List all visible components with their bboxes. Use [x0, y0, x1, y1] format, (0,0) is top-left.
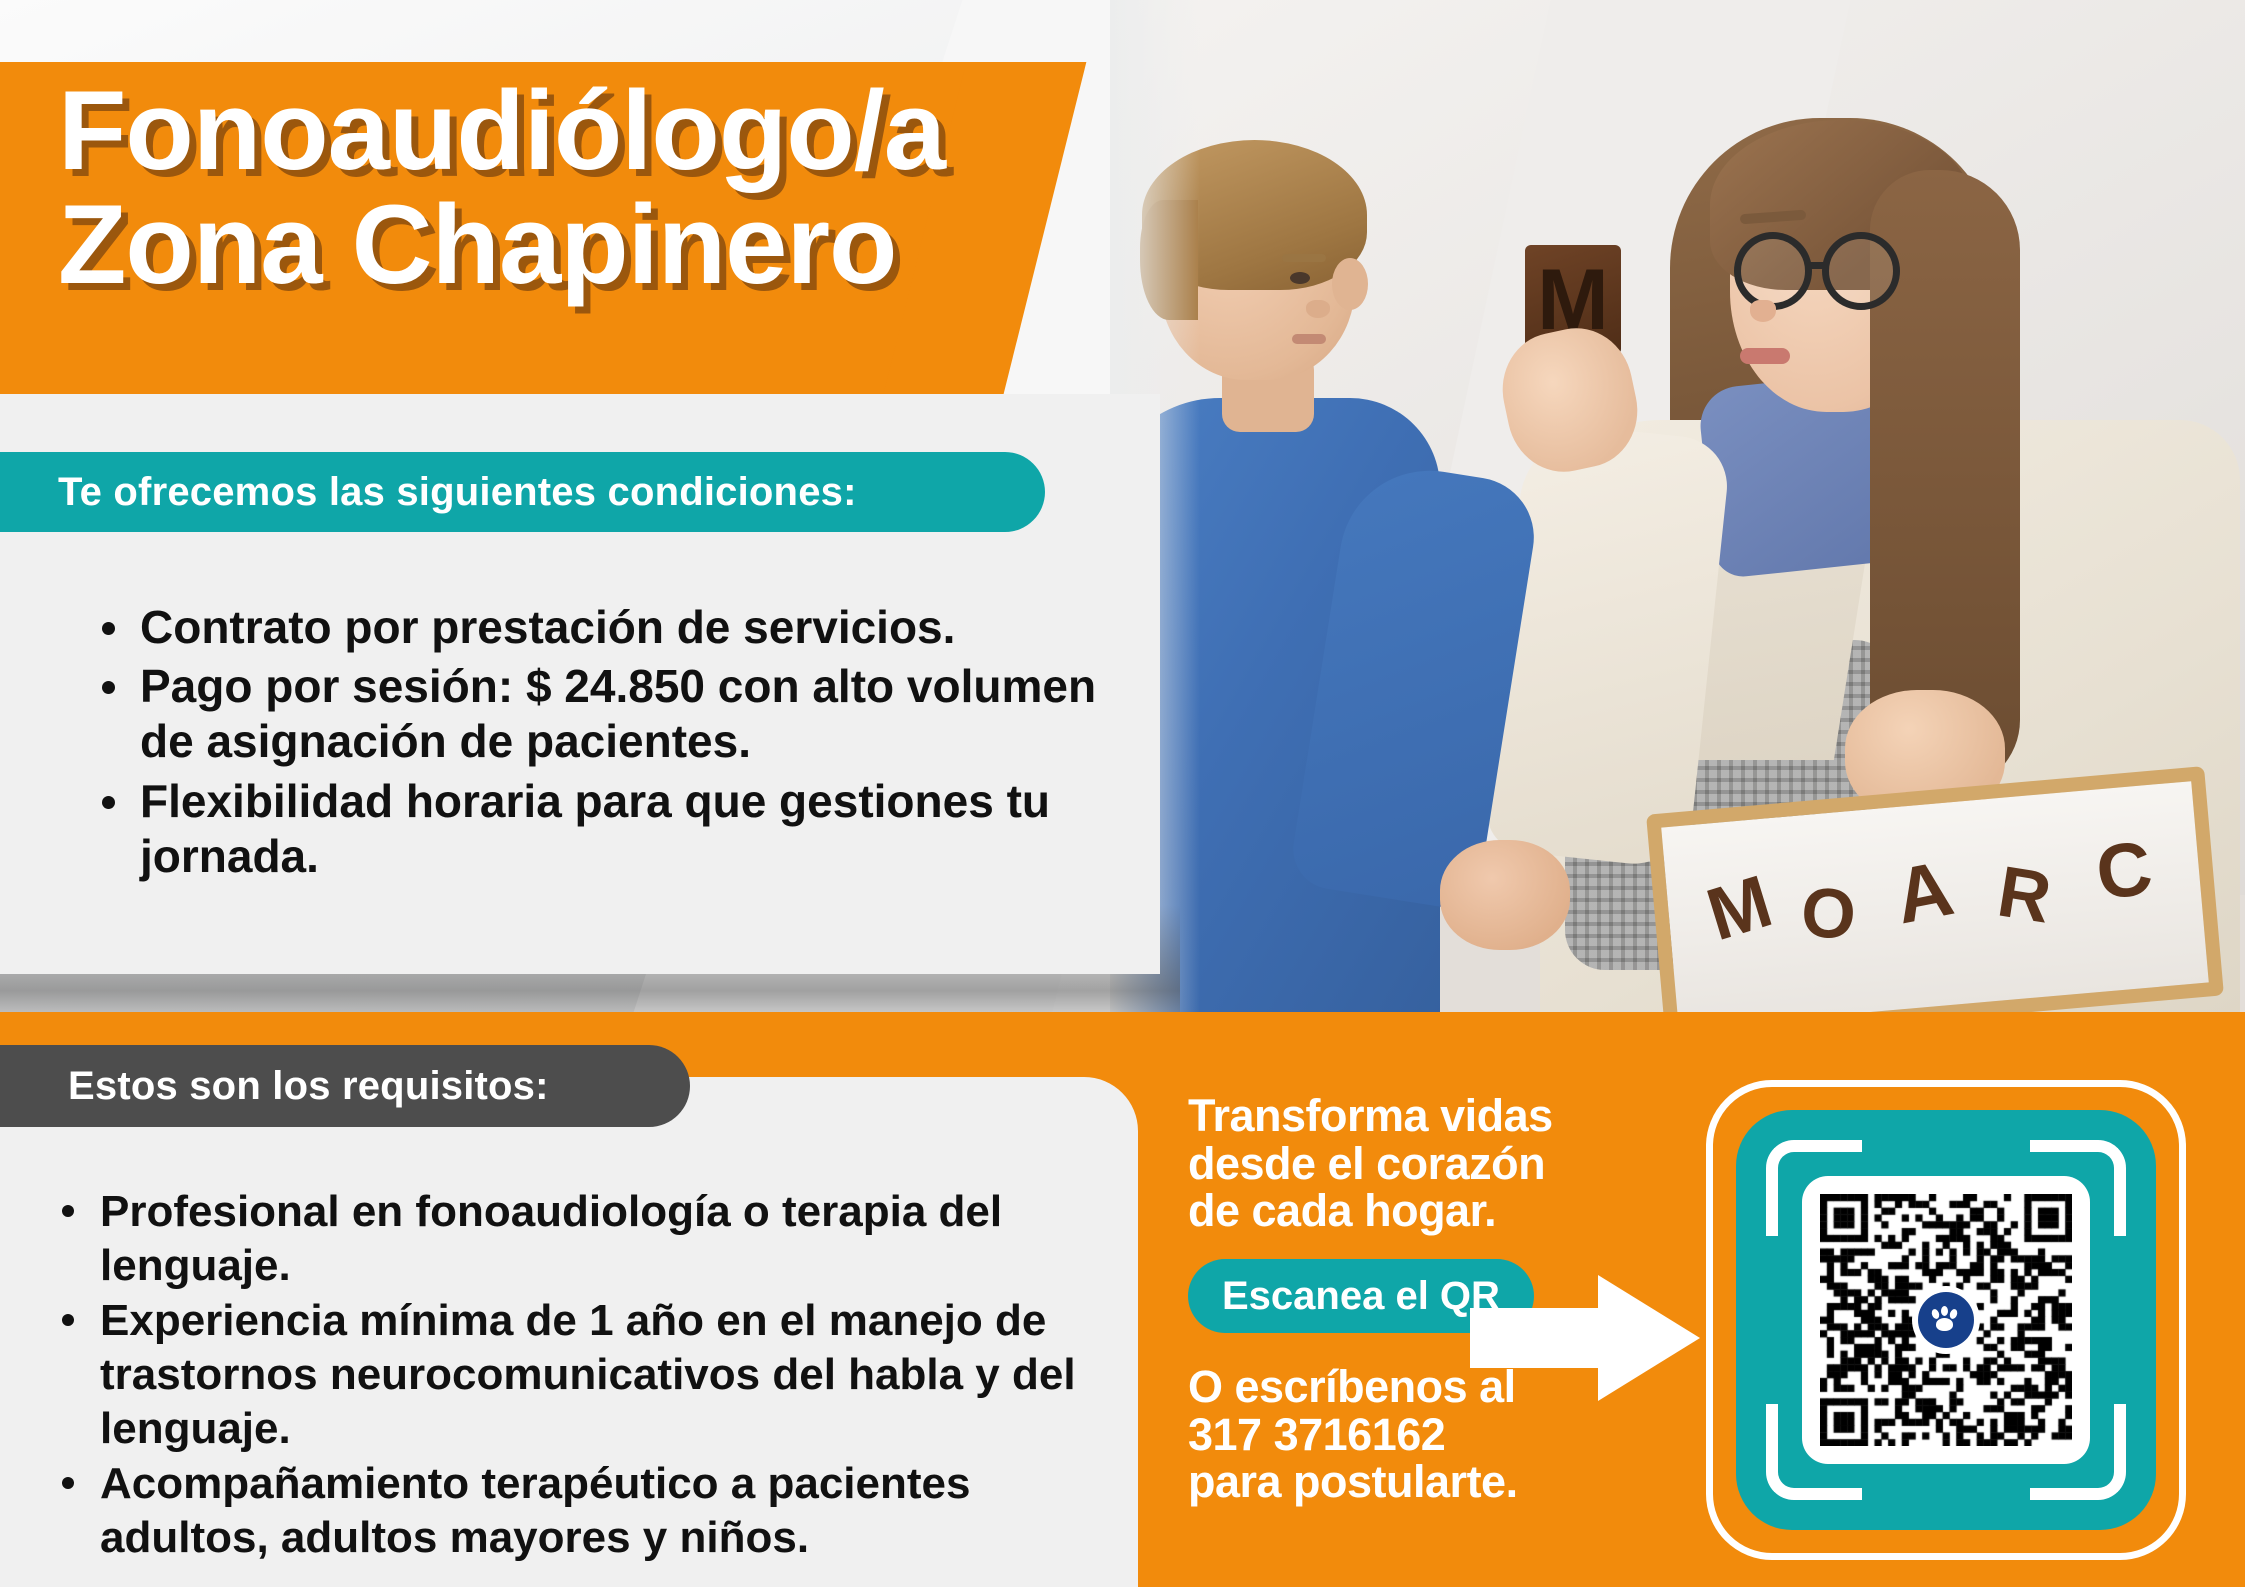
- requirements-badge: Estos son los requisitos:: [0, 1045, 690, 1127]
- contact-line-3: para postularte.: [1188, 1458, 1708, 1506]
- qr-code-panel[interactable]: [1802, 1176, 2090, 1464]
- board-letter: O: [1799, 872, 1858, 955]
- list-item: Profesional en fonoaudiología o terapia …: [48, 1185, 1098, 1292]
- therapist-glasses-right: [1822, 232, 1900, 310]
- paw-glyph: [1931, 1306, 1961, 1334]
- conditions-list: Contrato por prestación de servicios. Pa…: [88, 600, 1128, 888]
- cta-headline-line-1: Transforma vidas: [1188, 1092, 1708, 1140]
- cta-headline: Transforma vidas desde el corazón de cad…: [1188, 1092, 1708, 1235]
- child-eye: [1290, 272, 1310, 284]
- therapist-lips: [1740, 348, 1790, 364]
- conditions-badge: Te ofrecemos las siguientes condiciones:: [0, 452, 1045, 532]
- conditions-badge-label: Te ofrecemos las siguientes condiciones:: [58, 470, 857, 515]
- paw-pad: [1936, 1318, 1953, 1331]
- page-title-line-2: Zona Chapinero: [58, 188, 958, 302]
- child-eyebrow: [1282, 254, 1326, 262]
- child-nose: [1306, 300, 1330, 318]
- arrow-head: [1598, 1275, 1700, 1401]
- board-letter: M: [1697, 858, 1781, 957]
- therapist-glasses-bridge: [1810, 262, 1826, 269]
- cta-headline-line-2: desde el corazón: [1188, 1140, 1708, 1188]
- list-item: Contrato por prestación de servicios.: [88, 600, 1128, 655]
- page-title: Fonoaudiólogo/a Zona Chapinero: [58, 74, 958, 302]
- child-ear: [1332, 258, 1368, 310]
- poster-root: M O A R C Fonoaudiólogo/a Zona Chapinero…: [0, 0, 2245, 1587]
- board-letter: R: [1992, 851, 2056, 940]
- cta-headline-line-3: de cada hogar.: [1188, 1187, 1708, 1235]
- child-mouth: [1292, 334, 1326, 344]
- contact-phone-number: 317 3716162: [1188, 1411, 1708, 1459]
- arrow-shaft: [1470, 1308, 1618, 1368]
- list-item: Acompañamiento terapéutico a pacientes a…: [48, 1457, 1098, 1564]
- list-item: Flexibilidad horaria para que gestiones …: [88, 774, 1128, 884]
- requirements-badge-label: Estos son los requisitos:: [68, 1064, 549, 1109]
- therapist-nose: [1750, 300, 1776, 322]
- list-item: Experiencia mínima de 1 año en el manejo…: [48, 1294, 1098, 1455]
- therapist-glasses-left: [1734, 232, 1812, 310]
- page-title-line-1: Fonoaudiólogo/a: [58, 74, 958, 188]
- speech-therapist-photo: M O A R C: [1110, 0, 2245, 1015]
- paw-toe: [1941, 1306, 1948, 1316]
- board-letter: A: [1888, 842, 1961, 942]
- qr-code-block[interactable]: [1706, 1080, 2186, 1560]
- requirements-list: Profesional en fonoaudiología o terapia …: [48, 1185, 1098, 1567]
- arrow-right-icon: [1470, 1275, 1700, 1401]
- child-hand: [1440, 840, 1570, 950]
- paw-icon: [1918, 1292, 1974, 1348]
- list-item: Pago por sesión: $ 24.850 con alto volum…: [88, 659, 1128, 769]
- board-letter: C: [2091, 824, 2157, 918]
- scan-qr-label: Escanea el QR: [1222, 1274, 1500, 1319]
- paw-toe: [1949, 1308, 1959, 1320]
